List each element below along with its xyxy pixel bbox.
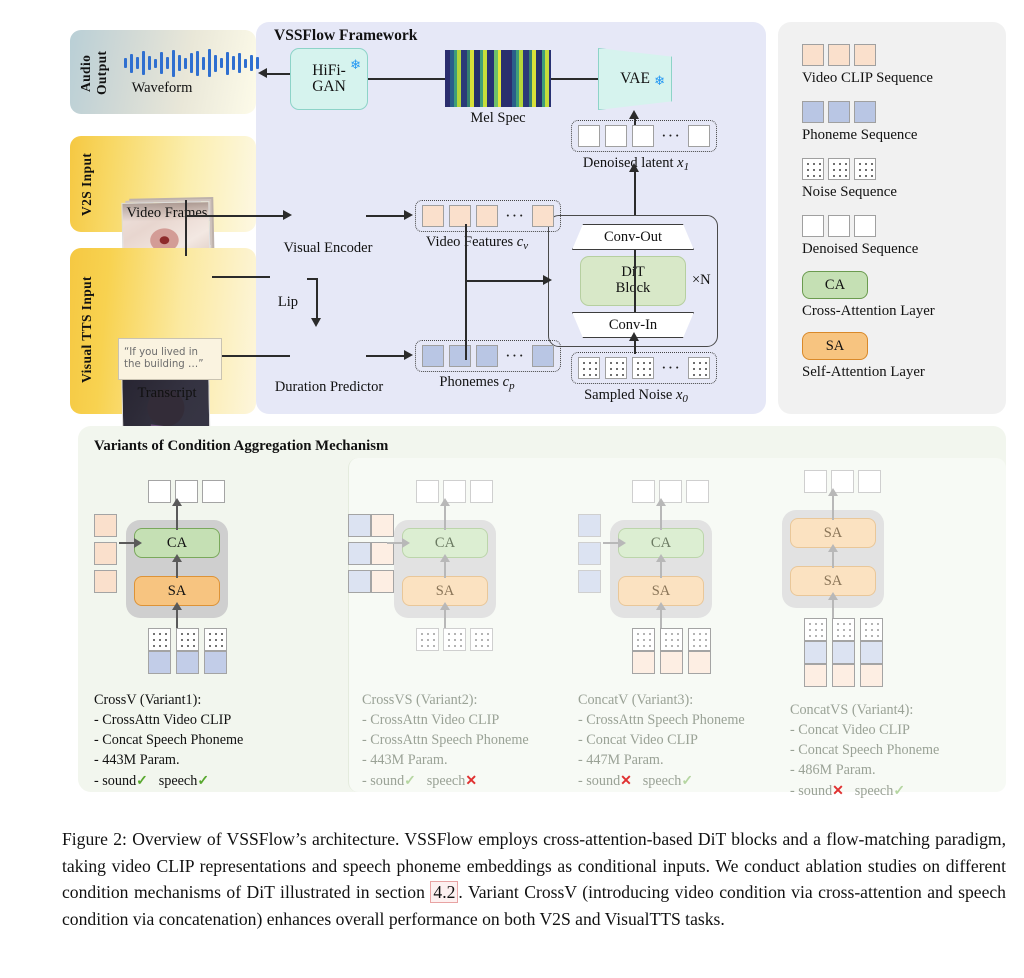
dit-block: DiT Block — [580, 256, 686, 306]
arrowhead-right — [283, 210, 292, 220]
variant-3-line-2: - 447M Param. — [578, 750, 793, 770]
lip-caption: Lip — [266, 294, 310, 311]
legend-label-noise: Noise Sequence — [802, 184, 1006, 201]
transcript-line2: the building …” — [124, 359, 203, 371]
legend-label-video-clip: Video CLIP Sequence — [802, 70, 1006, 87]
variant-4-diagram: SA SA — [790, 458, 1005, 658]
variant-column-1: CA SA CrossV (Variant1): - CrossAttn Vid… — [94, 458, 309, 792]
token-phoneme — [854, 101, 876, 123]
waveform-caption: Waveform — [108, 80, 216, 97]
legend-chip-sa: SA — [802, 332, 868, 360]
token-phoneme — [348, 570, 371, 593]
variant-1-input-stack — [148, 628, 227, 674]
token-noise — [578, 357, 600, 379]
arrowhead-down — [311, 318, 321, 327]
sampled-noise-sequence: ··· — [571, 352, 717, 384]
token-phoneme — [204, 651, 227, 674]
legend-panel: Video CLIP Sequence Phoneme Sequence Noi… — [778, 22, 1006, 414]
variant-4-caption: ConcatVS (Variant4): - Concat Video CLIP… — [790, 700, 1005, 801]
token-video-clip — [802, 44, 824, 66]
transcript-box: “If you lived in the building …” — [118, 338, 222, 380]
arrow-ca-to-output — [660, 504, 662, 530]
token-video-clip — [422, 205, 444, 227]
stack-col — [176, 628, 199, 674]
transcript-caption: Transcript — [112, 385, 222, 402]
token-noise — [854, 158, 876, 180]
vae-module: VAE ❄ — [598, 48, 672, 110]
token-video-clip — [371, 514, 394, 537]
duration-predictor-caption: Duration Predictor — [266, 379, 392, 396]
token-noise — [802, 158, 824, 180]
token-noise — [204, 628, 227, 651]
variant-4-sound-mark: ✕ — [832, 783, 844, 799]
variant-4-speech-label: speech — [855, 783, 894, 799]
token-video-clip — [371, 570, 394, 593]
token-video-clip — [94, 514, 117, 537]
visual-tts-input-label: Visual TTS Input — [79, 262, 95, 398]
arrowhead-up — [656, 602, 666, 610]
token-noise — [828, 158, 850, 180]
legend-label-phoneme: Phoneme Sequence — [802, 127, 1006, 144]
variant-1-results: - sound✓ speech✓ — [94, 771, 309, 791]
waveform-bar — [172, 50, 175, 77]
token-phoneme — [804, 641, 827, 664]
arrow-ca-to-output — [444, 504, 446, 530]
variants-title: Variants of Condition Aggregation Mechan… — [94, 438, 388, 455]
variant-column-2: CA SA CrossVS (Variant2): - CrossAttn Vi… — [362, 458, 577, 792]
waveform-bar — [124, 58, 127, 68]
dit-line1: DiT — [621, 265, 644, 281]
legend-swatch-phoneme — [802, 101, 1006, 123]
mel-spec-caption: Mel Spec — [445, 110, 551, 127]
token-phoneme — [578, 514, 601, 537]
ellipsis: ··· — [503, 346, 527, 366]
stack-col — [832, 618, 855, 687]
waveform-bar — [232, 56, 235, 70]
arrowhead-up — [440, 498, 450, 506]
legend-swatch-video-clip — [802, 44, 1006, 66]
legend-item-self-attention: SA Self-Attention Layer — [802, 332, 1006, 381]
token-phoneme — [422, 345, 444, 367]
variant-3-speech-mark: ✓ — [681, 773, 693, 789]
visual-encoder-caption: Visual Encoder — [272, 240, 384, 257]
token-noise — [176, 628, 199, 651]
arrowhead-up — [656, 554, 666, 562]
section-reference-link[interactable]: 4.2 — [430, 881, 458, 903]
waveform-bar — [196, 51, 199, 76]
token-noise — [688, 628, 711, 651]
phonemes-sequence: ··· — [415, 340, 561, 372]
arrow-clip-to-features — [366, 215, 408, 217]
variant-1-diagram: CA SA — [94, 458, 309, 658]
arrowhead-up — [172, 554, 182, 562]
variant-2-speech-label: speech — [427, 773, 466, 789]
token-video-clip — [832, 664, 855, 687]
variant-3-output-sequence — [632, 480, 709, 503]
variant-2-results: - sound✓ speech✕ — [362, 771, 577, 791]
token-phoneme — [860, 641, 883, 664]
token-video-clip — [476, 205, 498, 227]
line-frames-to-clip — [185, 215, 285, 217]
repeat-count-label: ×N — [692, 272, 711, 289]
token-noise — [470, 628, 493, 651]
ellipsis: ··· — [659, 126, 683, 146]
token-denoised — [632, 125, 654, 147]
variant-2-name: CrossVS (Variant2): — [362, 690, 577, 710]
arrowhead-up — [629, 163, 639, 172]
variant-1-output-sequence — [148, 480, 225, 503]
hifigan-line2: GAN — [312, 79, 346, 95]
variant-4-speech-mark: ✓ — [893, 783, 905, 799]
variant-3-line-0: - CrossAttn Speech Phoneme — [578, 710, 793, 730]
token-noise — [860, 618, 883, 641]
arrow-lip-to-dp — [316, 278, 318, 320]
arrow-dp-to-phonemes — [366, 355, 408, 357]
legend-item-denoised: Denoised Sequence — [802, 215, 1006, 258]
variant-1-sound-label: - sound — [94, 773, 136, 789]
variant-2-line-2: - 443M Param. — [362, 750, 577, 770]
waveform-bar — [208, 49, 211, 77]
arrowhead-up — [172, 498, 182, 506]
token-noise — [443, 628, 466, 651]
token-video-clip — [804, 664, 827, 687]
variant-1-speech-label: speech — [159, 773, 198, 789]
token-denoised — [148, 480, 171, 503]
variant-1-speech-mark: ✓ — [197, 773, 209, 789]
token-video-clip — [371, 542, 394, 565]
figure-caption: Figure 2: Overview of VSSFlow’s architec… — [62, 826, 1006, 933]
legend-swatch-noise — [802, 158, 1006, 180]
legend-item-video-clip: Video CLIP Sequence — [802, 44, 1006, 87]
variant-3-name: ConcatV (Variant3): — [578, 690, 793, 710]
arrowhead-up — [629, 332, 639, 341]
token-video-clip — [632, 651, 655, 674]
variant-1-line-1: - Concat Speech Phoneme — [94, 730, 309, 750]
arrowhead-up — [172, 602, 182, 610]
waveform-bar — [160, 52, 163, 74]
arrowhead-up — [828, 544, 838, 552]
video-features-text: Video Features — [426, 234, 513, 250]
line-lip-corner — [307, 278, 317, 280]
token-denoised — [858, 470, 881, 493]
video-features-sequence: ··· — [415, 200, 561, 232]
token-video-clip — [94, 570, 117, 593]
variant-4-line-0: - Concat Video CLIP — [790, 720, 1005, 740]
snowflake-icon: ❄ — [654, 74, 665, 87]
variant-3-speech-label: speech — [643, 773, 682, 789]
waveform-bar — [142, 51, 145, 75]
line-frames-to-face — [185, 200, 187, 256]
video-frames-caption: Video Frames — [112, 205, 222, 222]
waveform-bar — [190, 53, 193, 73]
variant-2-line-0: - CrossAttn Video CLIP — [362, 710, 577, 730]
arrowhead-right — [402, 538, 410, 548]
bus-phonemes-up — [465, 280, 467, 360]
arrow-sa-to-output — [832, 494, 834, 520]
variant-3-sound-label: - sound — [578, 773, 620, 789]
variant-2-line-1: - CrossAttn Speech Phoneme — [362, 730, 577, 750]
waveform-bar — [250, 55, 253, 71]
token-phoneme — [832, 641, 855, 664]
variant-3-phoneme-condition — [578, 514, 601, 593]
variant-1-line-2: - 443M Param. — [94, 750, 309, 770]
token-denoised — [605, 125, 627, 147]
token-noise — [832, 618, 855, 641]
token-phoneme — [578, 542, 601, 565]
token-denoised — [854, 215, 876, 237]
waveform-bar — [154, 59, 157, 68]
legend-item-phoneme: Phoneme Sequence — [802, 101, 1006, 144]
variant-4-line-2: - 486M Param. — [790, 760, 1005, 780]
legend-label-self-attention: Self-Attention Layer — [802, 364, 1006, 381]
variant-column-3: CA SA ConcatV (Variant3): - CrossAttn Sp… — [578, 458, 793, 792]
stack-col — [860, 618, 883, 687]
ellipsis: ··· — [503, 206, 527, 226]
token-denoised — [202, 480, 225, 503]
variant-4-results: - sound✕ speech✓ — [790, 781, 1005, 801]
legend-label-cross-attention: Cross-Attention Layer — [802, 303, 1006, 320]
token-noise — [632, 357, 654, 379]
variant-4-name: ConcatVS (Variant4): — [790, 700, 1005, 720]
hifigan-module: HiFi- GAN ❄ — [290, 48, 368, 110]
variant-2-output-sequence — [416, 480, 493, 503]
denoised-latent-sequence: ··· — [571, 120, 717, 152]
waveform-bar — [220, 58, 223, 68]
waveform-bar — [130, 54, 133, 73]
token-phoneme — [148, 651, 171, 674]
waveform-bar — [166, 57, 169, 69]
arrowhead-right — [404, 350, 413, 360]
arrowhead-up — [440, 554, 450, 562]
token-noise — [660, 628, 683, 651]
token-denoised — [416, 480, 439, 503]
variant-4-sound-label: - sound — [790, 783, 832, 799]
token-denoised — [632, 480, 655, 503]
token-noise — [632, 628, 655, 651]
arrowhead-up — [629, 110, 639, 119]
dit-line2: Block — [616, 281, 651, 297]
token-phoneme — [828, 101, 850, 123]
token-noise — [148, 628, 171, 651]
sampled-noise-caption: Sampled Noise x0 — [546, 387, 726, 405]
token-denoised — [804, 470, 827, 493]
snowflake-icon: ❄ — [350, 58, 361, 71]
arrowhead-right — [543, 275, 552, 285]
video-features-sub: v — [523, 240, 528, 252]
arrow-ca-to-output — [176, 504, 178, 530]
token-video-clip — [828, 44, 850, 66]
variant-column-4: SA SA ConcatVS (Variant4): - Concat Vide… — [790, 458, 1005, 792]
line-convin-to-convout — [634, 250, 636, 312]
stack-col — [804, 618, 827, 687]
token-video-clip — [854, 44, 876, 66]
arrowhead-up — [828, 592, 838, 600]
token-video-clip — [94, 542, 117, 565]
arrowhead-up — [828, 488, 838, 496]
sampled-noise-text: Sampled Noise — [584, 387, 672, 403]
token-denoised — [470, 480, 493, 503]
token-video-clip — [449, 205, 471, 227]
waveform-bar — [148, 56, 151, 70]
token-noise — [804, 618, 827, 641]
variant-2-phoneme-col — [348, 514, 371, 593]
arrowhead-left — [258, 68, 267, 78]
token-denoised — [802, 215, 824, 237]
waveform-bar — [244, 59, 247, 68]
waveform-bar — [238, 53, 241, 73]
token-noise — [605, 357, 627, 379]
variant-4-input-stack — [804, 618, 883, 687]
token-denoised — [578, 125, 600, 147]
waveform-bar — [202, 57, 205, 70]
variant-3-diagram: CA SA — [578, 458, 793, 658]
stack-col — [660, 628, 683, 674]
token-phoneme — [449, 345, 471, 367]
line-transcript-to-dp — [222, 355, 290, 357]
variant-3-caption: ConcatV (Variant3): - CrossAttn Speech P… — [578, 690, 793, 791]
line-mel-to-hifigan — [368, 78, 446, 80]
legend-label-denoised: Denoised Sequence — [802, 241, 1006, 258]
token-video-clip — [660, 651, 683, 674]
variant-2-video-col — [371, 514, 394, 593]
token-video-clip — [860, 664, 883, 687]
arrowhead-right — [404, 210, 413, 220]
waveform-bar — [136, 57, 139, 69]
token-video-clip — [688, 651, 711, 674]
waveform-bar — [226, 52, 229, 75]
token-phoneme — [348, 542, 371, 565]
token-phoneme — [802, 101, 824, 123]
ellipsis: ··· — [659, 358, 683, 378]
video-features-caption: Video Features cv — [402, 234, 552, 252]
line-vae-to-mel — [551, 78, 599, 80]
vae-label: VAE — [620, 70, 650, 88]
variant-1-name: CrossV (Variant1): — [94, 690, 309, 710]
stack-col — [204, 628, 227, 674]
line-face-to-lip — [212, 276, 270, 278]
variant-3-input-stack — [632, 628, 711, 674]
token-phoneme — [176, 651, 199, 674]
variant-3-line-1: - Concat Video CLIP — [578, 730, 793, 750]
legend-chip-ca: CA — [802, 271, 868, 299]
variant-2-noise-sequence — [416, 628, 493, 651]
conv-out-block: Conv-Out — [572, 224, 694, 250]
legend-item-cross-attention: CA Cross-Attention Layer — [802, 271, 1006, 320]
transcript-line1: “If you lived in — [124, 347, 203, 359]
stack-col — [632, 628, 655, 674]
variant-2-sound-mark: ✓ — [404, 773, 416, 789]
variant-3-results: - sound✕ speech✓ — [578, 771, 793, 791]
variant-1-line-0: - CrossAttn Video CLIP — [94, 710, 309, 730]
arrowhead-up — [440, 602, 450, 610]
variant-2-diagram: CA SA — [362, 458, 577, 658]
arrowhead-up — [656, 498, 666, 506]
phonemes-caption: Phonemes cp — [412, 374, 542, 392]
waveform-graphic — [124, 48, 259, 78]
variant-2-sound-label: - sound — [362, 773, 404, 789]
variant-1-sound-mark: ✓ — [136, 773, 148, 789]
token-noise — [688, 357, 710, 379]
mel-spectrogram — [445, 50, 551, 107]
variant-2-caption: CrossVS (Variant2): - CrossAttn Video CL… — [362, 690, 577, 791]
legend-swatch-denoised — [802, 215, 1006, 237]
waveform-bar — [214, 55, 217, 72]
phonemes-text: Phonemes — [439, 374, 499, 390]
sampled-noise-sub: 0 — [682, 393, 688, 405]
stack-col — [148, 628, 171, 674]
waveform-bar — [178, 55, 181, 71]
stack-col — [688, 628, 711, 674]
variant-4-output-sequence — [804, 470, 881, 493]
token-denoised — [828, 215, 850, 237]
token-video-clip — [532, 205, 554, 227]
arrowhead-right — [134, 538, 142, 548]
bus-to-dit — [465, 280, 547, 282]
variant-2-speech-mark: ✕ — [465, 773, 477, 789]
token-noise — [416, 628, 439, 651]
variant-3-sound-mark: ✕ — [620, 773, 632, 789]
legend-item-noise: Noise Sequence — [802, 158, 1006, 201]
variant-1-caption: CrossV (Variant1): - CrossAttn Video CLI… — [94, 690, 309, 791]
hifigan-line1: HiFi- — [312, 63, 346, 79]
v2s-input-label: V2S Input — [79, 146, 95, 222]
audio-output-label: Audio Output — [78, 42, 110, 104]
denoised-latent-sub: 1 — [684, 161, 690, 173]
variant-2-conditions — [348, 514, 394, 593]
token-phoneme — [532, 345, 554, 367]
variant-4-line-1: - Concat Speech Phoneme — [790, 740, 1005, 760]
token-denoised — [688, 125, 710, 147]
variant-1-video-condition — [94, 514, 117, 593]
bus-features-down — [465, 224, 467, 280]
framework-title: VSSFlow Framework — [274, 27, 417, 45]
phonemes-sub: p — [509, 380, 515, 392]
token-phoneme — [476, 345, 498, 367]
token-phoneme — [578, 570, 601, 593]
waveform-bar — [184, 58, 187, 69]
arrowhead-right — [618, 538, 626, 548]
token-phoneme — [348, 514, 371, 537]
token-denoised — [686, 480, 709, 503]
